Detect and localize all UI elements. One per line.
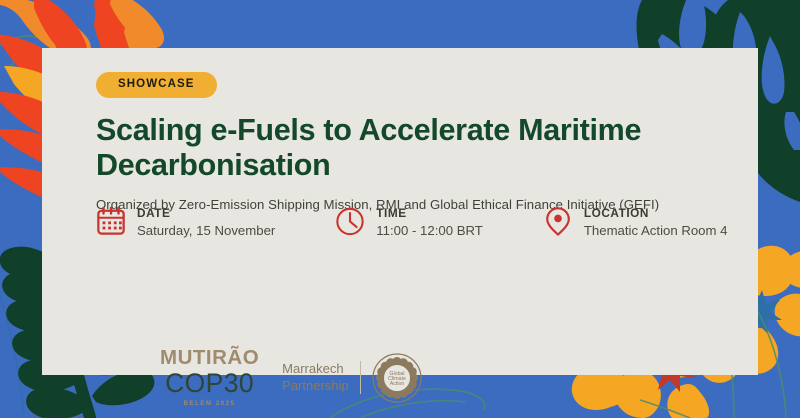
cop30-logo: MUTIRÃO COP30 BELÉM 2025: [160, 348, 259, 407]
page-title: Scaling e-Fuels to Accelerate Maritime D…: [96, 113, 716, 184]
detail-date-text: DATE Saturday, 15 November: [137, 205, 275, 240]
detail-location-text: LOCATION Thematic Action Room 4: [584, 205, 728, 240]
clock-icon: [335, 205, 365, 237]
logo-row: MUTIRÃO COP30 BELÉM 2025 Marrakech Partn…: [160, 348, 422, 407]
calendar-icon: [96, 205, 126, 237]
detail-location-label: LOCATION: [584, 206, 728, 221]
detail-time: TIME 11:00 - 12:00 BRT: [335, 205, 483, 240]
global-climate-action-seal-icon: Global Climate Action: [372, 353, 422, 403]
detail-time-text: TIME 11:00 - 12:00 BRT: [376, 205, 483, 240]
event-card: SHOWCASE Scaling e-Fuels to Accelerate M…: [42, 48, 758, 375]
seal-line3: Action: [389, 381, 404, 387]
cop30-logo-cop30: COP30: [160, 370, 259, 398]
cop30-logo-belem: BELÉM 2025: [160, 401, 259, 407]
event-details-row: DATE Saturday, 15 November TIME 11:00 - …: [96, 205, 728, 240]
marrakech-partnership-line1: Marrakech: [282, 361, 348, 378]
card-header: SHOWCASE Scaling e-Fuels to Accelerate M…: [96, 72, 738, 213]
marrakech-partnership-line2: Partnership: [282, 378, 348, 395]
detail-time-value: 11:00 - 12:00 BRT: [376, 221, 483, 240]
showcase-badge: SHOWCASE: [96, 72, 217, 98]
detail-time-label: TIME: [376, 206, 483, 221]
detail-date-value: Saturday, 15 November: [137, 221, 275, 240]
detail-date: DATE Saturday, 15 November: [96, 205, 275, 240]
event-poster: SHOWCASE Scaling e-Fuels to Accelerate M…: [0, 0, 800, 418]
detail-location: LOCATION Thematic Action Room 4: [543, 205, 728, 240]
marrakech-partnership-text: Marrakech Partnership: [282, 361, 360, 394]
detail-location-value: Thematic Action Room 4: [584, 221, 728, 240]
cop30-logo-mutirao: MUTIRÃO: [160, 348, 259, 369]
marrakech-partnership-logo: Marrakech Partnership Global Climate Act…: [282, 353, 421, 403]
detail-date-label: DATE: [137, 206, 275, 221]
location-pin-icon: [543, 205, 573, 237]
